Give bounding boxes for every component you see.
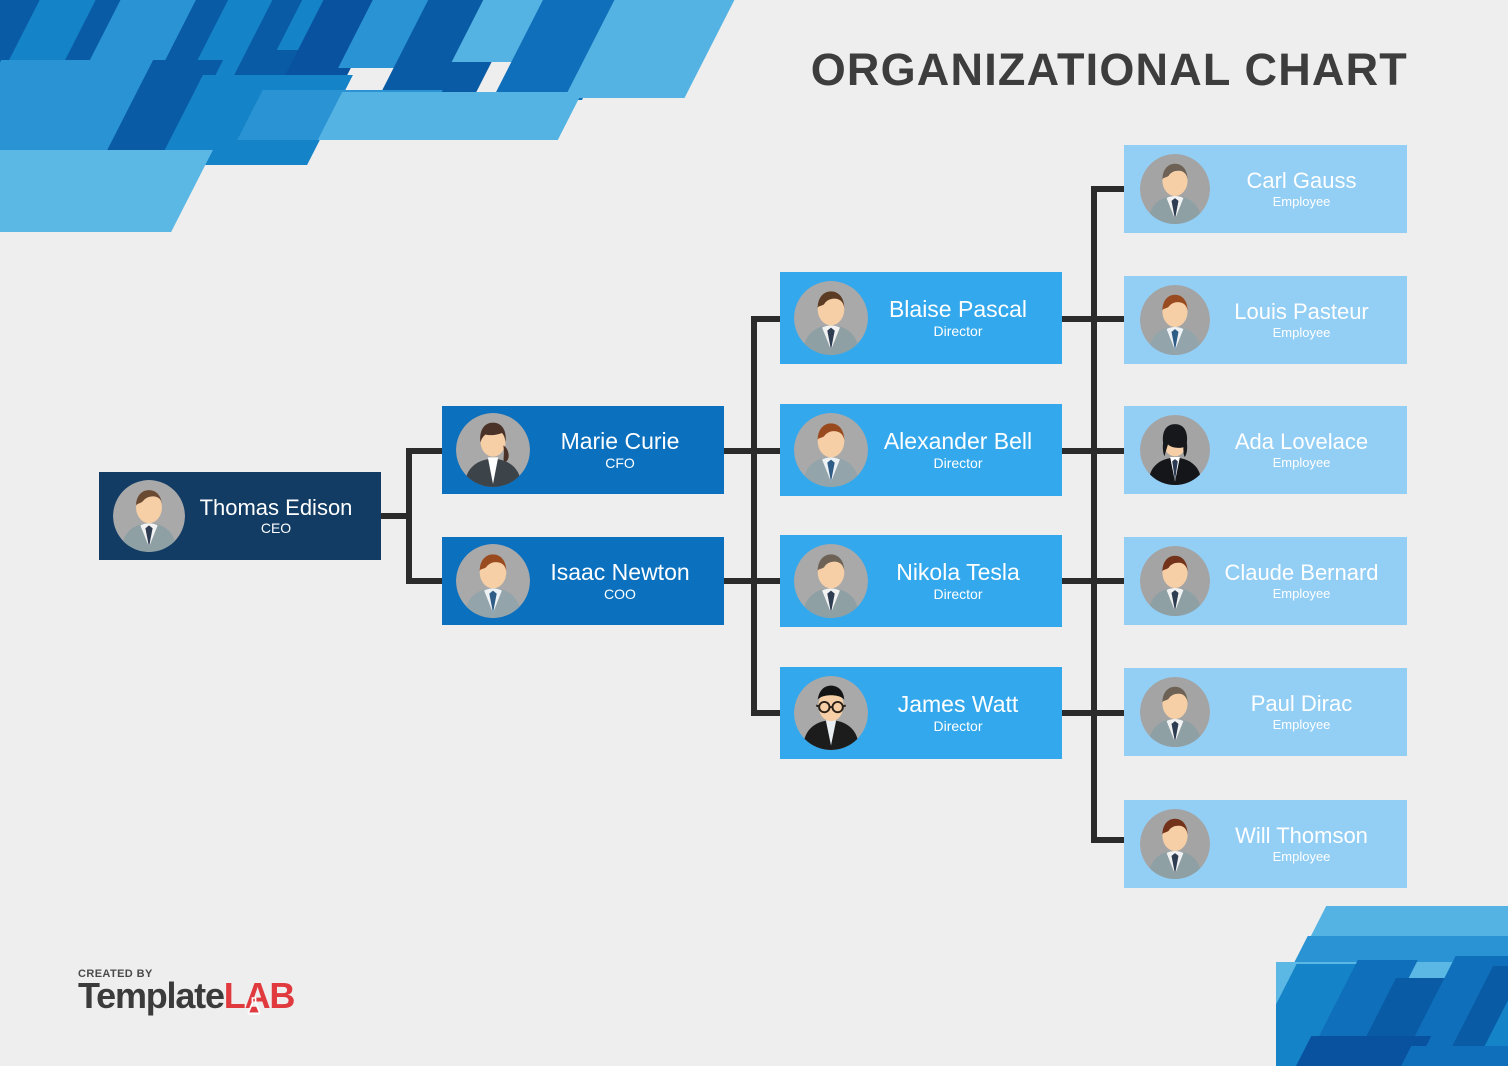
- deco-bar: [157, 0, 343, 140]
- deco-bar: [1276, 962, 1487, 1066]
- deco-bar: [1276, 964, 1367, 1066]
- org-node-cfo[interactable]: Marie Curie CFO: [442, 406, 724, 494]
- avatar: [794, 676, 868, 750]
- node-role: CEO: [185, 521, 367, 536]
- deco-bar: [564, 0, 739, 98]
- connector-to-dir4: [751, 710, 783, 716]
- avatar: [794, 281, 868, 355]
- deco-bar: [277, 0, 413, 50]
- connector-to-dir1: [751, 316, 783, 322]
- deco-bar: [87, 60, 223, 190]
- node-role: Employee: [1210, 195, 1393, 209]
- org-node-employee-4[interactable]: Claude Bernard Employee: [1124, 537, 1407, 625]
- node-text: Thomas Edison CEO: [185, 496, 373, 537]
- avatar: [794, 413, 868, 487]
- deco-bar: [0, 60, 171, 222]
- node-text: Claude Bernard Employee: [1210, 561, 1399, 602]
- deco-bar: [0, 150, 213, 232]
- node-text: Nikola Tesla Director: [868, 560, 1054, 602]
- deco-bar: [1431, 966, 1508, 1066]
- deco-bar: [1388, 956, 1508, 1066]
- node-text: Isaac Newton COO: [530, 560, 716, 602]
- node-role: CFO: [530, 456, 710, 471]
- avatar: [456, 413, 530, 487]
- node-name: Louis Pasteur: [1210, 300, 1393, 324]
- deco-bar: [452, 0, 614, 62]
- node-name: Will Thomson: [1210, 824, 1393, 848]
- deco-bar: [375, 0, 529, 105]
- deco-bar: [1281, 1036, 1432, 1066]
- flask-icon: [246, 986, 262, 1006]
- deco-bar: [0, 0, 75, 165]
- node-text: Carl Gauss Employee: [1210, 169, 1399, 210]
- node-name: Claude Bernard: [1210, 561, 1393, 585]
- node-name: Nikola Tesla: [868, 560, 1048, 585]
- avatar: [1140, 546, 1210, 616]
- node-role: Employee: [1210, 587, 1393, 601]
- node-name: Thomas Edison: [185, 496, 367, 520]
- node-name: Ada Lovelace: [1210, 430, 1393, 454]
- deco-bar: [222, 0, 332, 98]
- logo-template-text: Template: [78, 975, 224, 1016]
- connector-to-emp4: [1091, 578, 1127, 584]
- org-node-director-1[interactable]: Blaise Pascal Director: [780, 272, 1062, 364]
- avatar: [1140, 415, 1210, 485]
- connector-employee-spine: [1091, 186, 1097, 843]
- node-name: Paul Dirac: [1210, 692, 1393, 716]
- deco-bar: [1340, 978, 1466, 1066]
- connector-to-emp5: [1091, 710, 1127, 716]
- connector-to-dir2: [751, 448, 783, 454]
- avatar: [113, 480, 185, 552]
- org-node-director-3[interactable]: Nikola Tesla Director: [780, 535, 1062, 627]
- connector-director-spine: [751, 316, 757, 716]
- connector-to-dir3: [751, 578, 783, 584]
- node-name: Alexander Bell: [868, 429, 1048, 454]
- avatar: [1140, 809, 1210, 879]
- node-text: Ada Lovelace Employee: [1210, 430, 1399, 471]
- org-chart-canvas: ORGANIZATIONAL CHART Th: [0, 0, 1508, 1066]
- org-node-employee-6[interactable]: Will Thomson Employee: [1124, 800, 1407, 888]
- org-node-employee-1[interactable]: Carl Gauss Employee: [1124, 145, 1407, 233]
- connector-to-emp1: [1091, 186, 1127, 192]
- node-role: Director: [868, 719, 1048, 734]
- org-node-employee-2[interactable]: Louis Pasteur Employee: [1124, 276, 1407, 364]
- deco-bar: [237, 90, 442, 140]
- connector-to-emp2: [1091, 316, 1127, 322]
- deco-bar: [1306, 906, 1508, 946]
- node-text: Louis Pasteur Employee: [1210, 300, 1399, 341]
- node-role: COO: [530, 587, 710, 602]
- deco-bar: [271, 0, 390, 102]
- avatar: [1140, 154, 1210, 224]
- node-text: Paul Dirac Employee: [1210, 692, 1399, 733]
- connector-to-emp3: [1091, 448, 1127, 454]
- deco-bar: [0, 0, 195, 205]
- deco-bar: [1284, 936, 1508, 982]
- node-name: Marie Curie: [530, 429, 710, 454]
- avatar: [1140, 285, 1210, 355]
- deco-bar: [1294, 960, 1418, 1066]
- deco-bar: [0, 150, 93, 232]
- node-text: Alexander Bell Director: [868, 429, 1054, 471]
- node-role: Employee: [1210, 326, 1393, 340]
- connector-ceo-to-cfo: [406, 448, 444, 454]
- deco-bar: [338, 0, 488, 68]
- deco-bar: [318, 92, 582, 140]
- org-node-director-4[interactable]: James Watt Director: [780, 667, 1062, 759]
- templatelab-logo: CREATED BY TemplateLAB: [78, 968, 294, 1014]
- node-text: Blaise Pascal Director: [868, 297, 1054, 339]
- org-node-coo[interactable]: Isaac Newton COO: [442, 537, 724, 625]
- deco-bar: [64, 0, 235, 110]
- avatar: [1140, 677, 1210, 747]
- node-text: James Watt Director: [868, 692, 1054, 734]
- connector-to-emp6: [1091, 837, 1127, 843]
- deco-bar: [19, 0, 171, 150]
- node-name: Blaise Pascal: [868, 297, 1048, 322]
- node-name: Carl Gauss: [1210, 169, 1393, 193]
- node-role: Employee: [1210, 718, 1393, 732]
- deco-bar: [157, 75, 353, 165]
- node-role: Director: [868, 587, 1048, 602]
- node-role: Employee: [1210, 456, 1393, 470]
- node-text: Marie Curie CFO: [530, 429, 716, 471]
- node-name: James Watt: [868, 692, 1048, 717]
- node-role: Director: [868, 456, 1048, 471]
- logo-wordmark: TemplateLAB: [78, 978, 294, 1014]
- avatar: [794, 544, 868, 618]
- deco-bar: [1463, 936, 1508, 1066]
- page-title: ORGANIZATIONAL CHART: [811, 44, 1408, 96]
- node-text: Will Thomson Employee: [1210, 824, 1399, 865]
- avatar: [456, 544, 530, 618]
- decoration-top-left: [0, 0, 760, 232]
- deco-bar: [0, 80, 26, 232]
- org-node-director-2[interactable]: Alexander Bell Director: [780, 404, 1062, 496]
- node-name: Isaac Newton: [530, 560, 710, 585]
- org-node-employee-3[interactable]: Ada Lovelace Employee: [1124, 406, 1407, 494]
- deco-bar: [0, 0, 44, 232]
- node-role: Director: [868, 324, 1048, 339]
- deco-bar: [492, 0, 638, 100]
- connector-ceo-to-coo: [406, 578, 444, 584]
- org-node-employee-5[interactable]: Paul Dirac Employee: [1124, 668, 1407, 756]
- deco-bar: [99, 0, 261, 190]
- node-role: Employee: [1210, 850, 1393, 864]
- connector-ceo-vertical: [406, 448, 412, 584]
- decoration-bottom-right: [1276, 896, 1508, 1066]
- org-node-ceo[interactable]: Thomas Edison CEO: [99, 472, 381, 560]
- deco-bar: [1381, 1046, 1508, 1066]
